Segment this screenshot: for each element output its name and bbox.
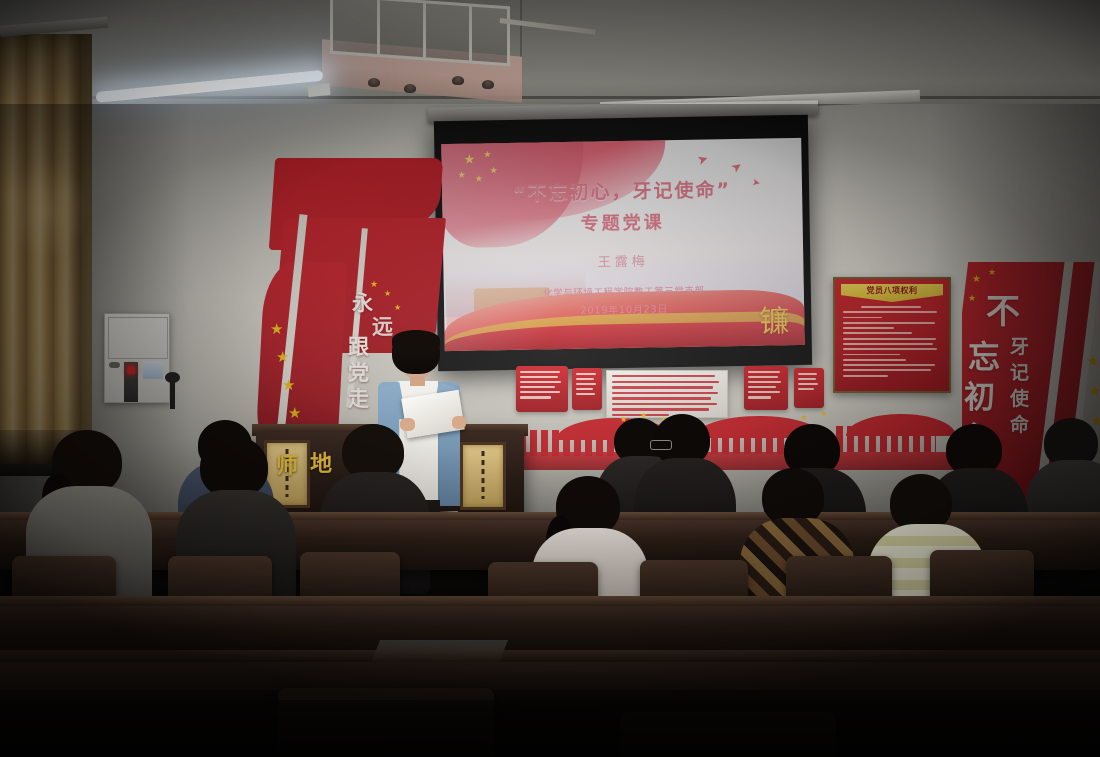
seat-back — [300, 552, 400, 602]
wall-lighting-vignette — [0, 104, 1100, 534]
speaker-hand-right — [452, 416, 466, 429]
eyeglasses-icon — [650, 440, 672, 450]
ceiling-lamp-icon — [452, 76, 464, 85]
ceiling-lamp-icon — [404, 84, 416, 93]
seat-back — [930, 550, 1034, 602]
head — [200, 436, 268, 498]
lecture-hall-photo: ★ ★ ★ ★ ★ ➤ ➤ ➤ 镰 “不忘初心，牙记使命” 专题党课 王露梅 化… — [0, 0, 1100, 757]
calligraphy-panel-right — [460, 442, 506, 510]
ceiling-lamp-icon — [368, 78, 380, 87]
speaker-hand-left — [400, 418, 415, 431]
ceiling-lamp-icon — [482, 80, 494, 89]
speaker-fringe — [392, 330, 440, 350]
ceiling-seam — [0, 96, 1100, 99]
podium-gold-character: 师 — [276, 448, 298, 480]
podium-gold-character: 地 — [310, 446, 332, 478]
floor-shadow — [0, 700, 1100, 757]
ceiling — [0, 0, 1100, 118]
light-fixture-end — [307, 83, 330, 97]
